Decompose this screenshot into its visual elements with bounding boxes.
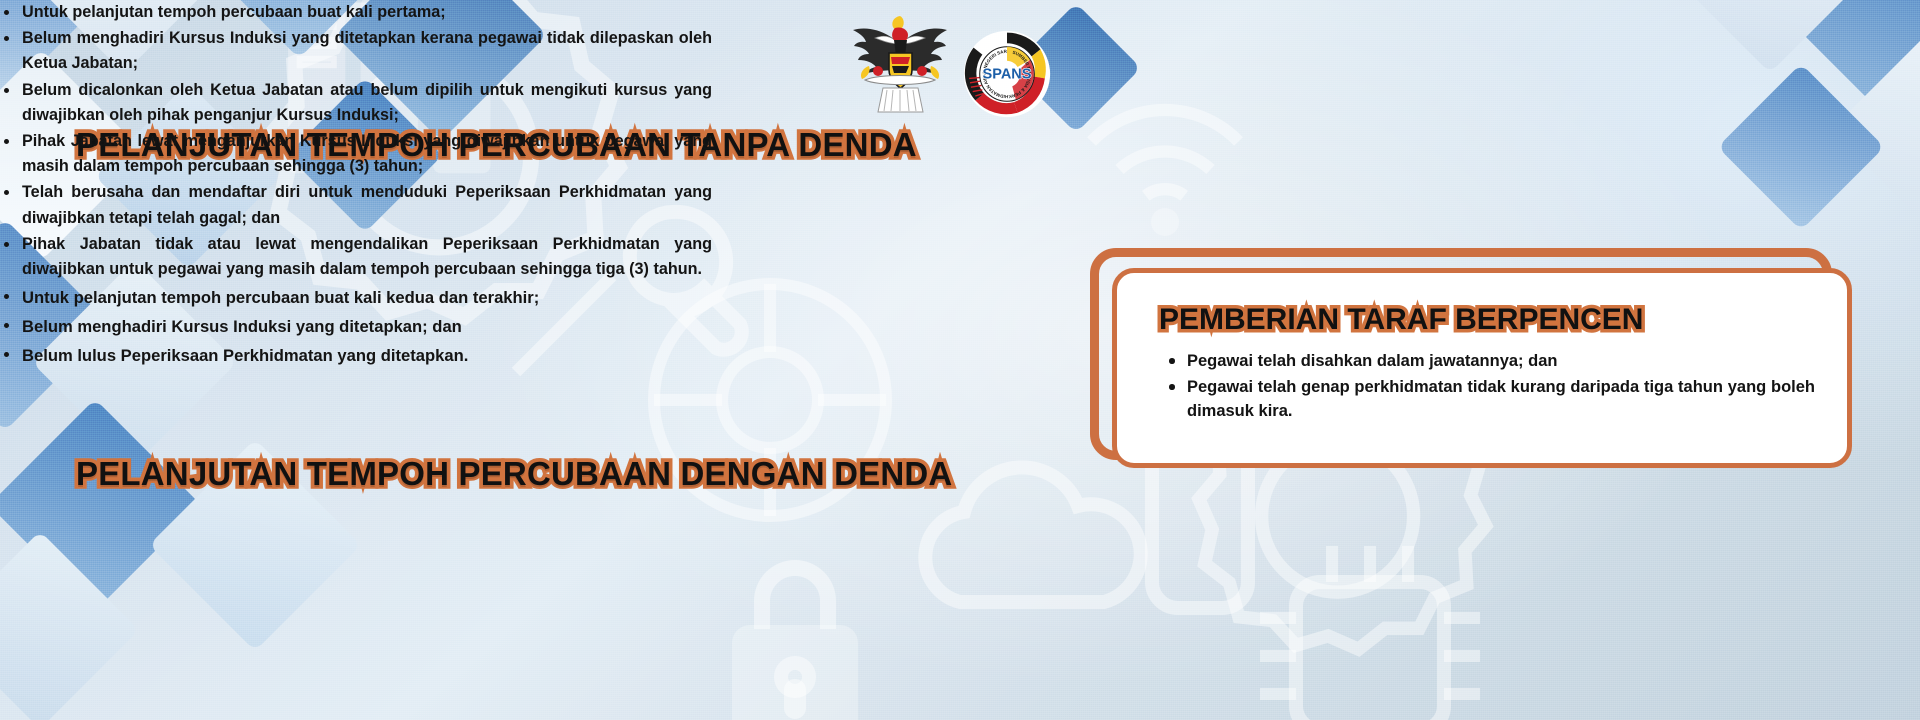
list-item: Pegawai telah genap perkhidmatan tidak k… bbox=[1167, 375, 1815, 423]
list-item: Belum lulus Peperiksaan Perkhidmatan yan… bbox=[0, 341, 740, 370]
list-item: Belum menghadiri Kursus Induksi yang dit… bbox=[0, 312, 740, 341]
list-item: Telah berusaha dan mendaftar diri untuk … bbox=[0, 180, 712, 230]
poster-canvas: SUMBER MANUSIA & PERKHIDMATAN AWAM NEGER… bbox=[0, 0, 1920, 720]
logo-group: SUMBER MANUSIA & PERKHIDMATAN AWAM NEGER… bbox=[845, 6, 1085, 118]
list-item: Untuk pelanjutan tempoh percubaan buat k… bbox=[0, 283, 740, 312]
cpu-chip-icon bbox=[1240, 530, 1500, 720]
bullet-list-berpencen: Pegawai telah disahkan dalam jawatannya;… bbox=[1149, 349, 1821, 423]
card-heading: PEMBERIAN TARAF BERPENCEN bbox=[1159, 303, 1821, 337]
bullet-list-dengan-denda: Untuk pelanjutan tempoh percubaan buat k… bbox=[0, 283, 740, 370]
list-item: Pihak Jabatan tidak atau lewat mengendal… bbox=[0, 232, 712, 282]
callout-card-wrapper: PEMBERIAN TARAF BERPENCEN Pegawai telah … bbox=[1090, 240, 1860, 470]
svg-text:SPANS: SPANS bbox=[983, 66, 1032, 82]
callout-card-berpencen: PEMBERIAN TARAF BERPENCEN Pegawai telah … bbox=[1112, 268, 1852, 468]
bullet-list-tanpa-denda: Untuk pelanjutan tempoh percubaan buat k… bbox=[0, 0, 712, 282]
section-heading-dengan-denda: PELANJUTAN TEMPOH PERCUBAAN DENGAN DENDA bbox=[76, 455, 952, 493]
sarawak-coat-of-arms-icon bbox=[845, 8, 955, 118]
padlock-icon bbox=[700, 545, 890, 720]
list-item: Pihak Jabatan lewat menganjurkan Kursus … bbox=[0, 129, 712, 179]
list-item: Belum menghadiri Kursus Induksi yang dit… bbox=[0, 26, 712, 76]
list-item: Untuk pelanjutan tempoh percubaan buat k… bbox=[0, 0, 712, 25]
list-item: Belum dicalonkan oleh Ketua Jabatan atau… bbox=[0, 78, 712, 128]
list-item: Pegawai telah disahkan dalam jawatannya;… bbox=[1167, 349, 1815, 373]
spans-logo-icon: SUMBER MANUSIA & PERKHIDMATAN AWAM NEGER… bbox=[963, 30, 1051, 118]
